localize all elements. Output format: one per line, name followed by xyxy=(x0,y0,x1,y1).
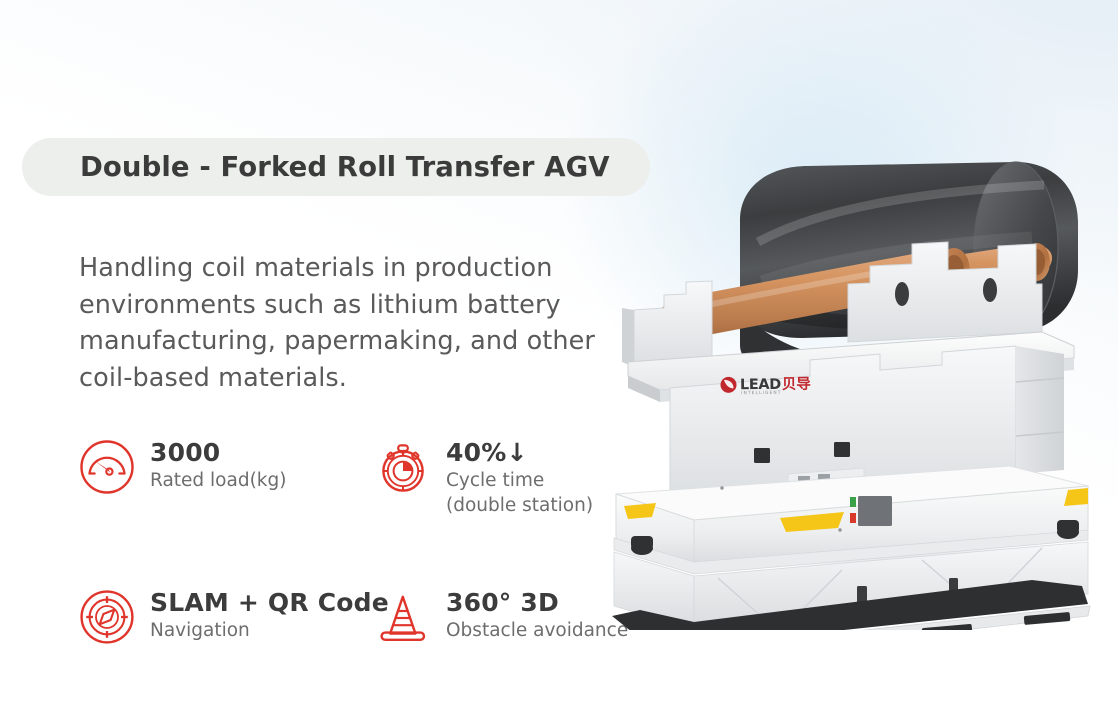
control-panel xyxy=(858,496,892,526)
indicator-red xyxy=(850,513,856,523)
feature-text: SLAM + QR Code Navigation xyxy=(150,584,389,643)
indicator-green xyxy=(850,497,856,507)
feature-cycle-time: 40%↓ Cycle time (double station) xyxy=(374,434,644,518)
sensor-right xyxy=(834,442,850,457)
bumper-post-left xyxy=(631,536,653,549)
feature-label: Obstacle avoidance xyxy=(446,618,628,643)
feature-obstacle-avoidance: 360° 3D Obstacle avoidance xyxy=(374,584,644,646)
product-slide: Double - Forked Roll Transfer AGV Handli… xyxy=(0,0,1118,719)
brand-name-latin: LEAD xyxy=(740,377,781,391)
product-description: Handling coil materials in production en… xyxy=(79,250,639,396)
carriage-pin-right xyxy=(983,278,997,302)
feature-row-1: 3000 Rated load(kg) xyxy=(78,434,648,518)
feature-text: 3000 Rated load(kg) xyxy=(150,434,286,493)
down-arrow-icon: ↓ xyxy=(506,438,527,467)
brand-name-cjk: 贝导 xyxy=(782,377,811,391)
carriage-pin-left xyxy=(895,282,909,306)
feature-text: 40%↓ Cycle time (double station) xyxy=(446,434,593,518)
stopwatch-icon xyxy=(374,438,432,496)
feature-value: 360° 3D xyxy=(446,588,628,618)
lead-logo-mark xyxy=(720,376,737,393)
feature-label: Cycle time xyxy=(446,468,593,493)
feature-label: Rated load(kg) xyxy=(150,468,286,493)
feature-label: Navigation xyxy=(150,618,389,643)
page-title: Double - Forked Roll Transfer AGV xyxy=(80,151,610,183)
feature-value: SLAM + QR Code xyxy=(150,588,389,618)
compass-icon xyxy=(78,588,136,646)
page-title-pill: Double - Forked Roll Transfer AGV xyxy=(22,138,650,196)
feature-value: 40%↓ xyxy=(446,438,593,468)
feature-row-2: SLAM + QR Code Navigation xyxy=(78,584,648,646)
traffic-cone-icon xyxy=(374,588,432,646)
brand-logo: LEAD 贝导 INTELLIGENT xyxy=(720,376,811,394)
feature-navigation: SLAM + QR Code Navigation xyxy=(78,584,374,646)
agv-product-image: LEAD 贝导 INTELLIGENT xyxy=(612,70,1118,630)
feature-value-number: 40% xyxy=(446,438,506,467)
feature-rated-load: 3000 Rated load(kg) xyxy=(78,434,374,518)
agv-illustration xyxy=(612,70,1118,630)
gauge-icon xyxy=(78,438,136,496)
bumper-post-right xyxy=(1057,520,1079,533)
feature-grid: 3000 Rated load(kg) xyxy=(78,434,648,646)
brand-tagline: INTELLIGENT xyxy=(741,391,782,396)
sensor-left xyxy=(754,448,770,463)
feature-value: 3000 xyxy=(150,438,286,468)
feature-text: 360° 3D Obstacle avoidance xyxy=(446,584,628,643)
left-content-column: Double - Forked Roll Transfer AGV Handli… xyxy=(0,0,660,719)
feature-label-secondary: (double station) xyxy=(446,493,593,518)
